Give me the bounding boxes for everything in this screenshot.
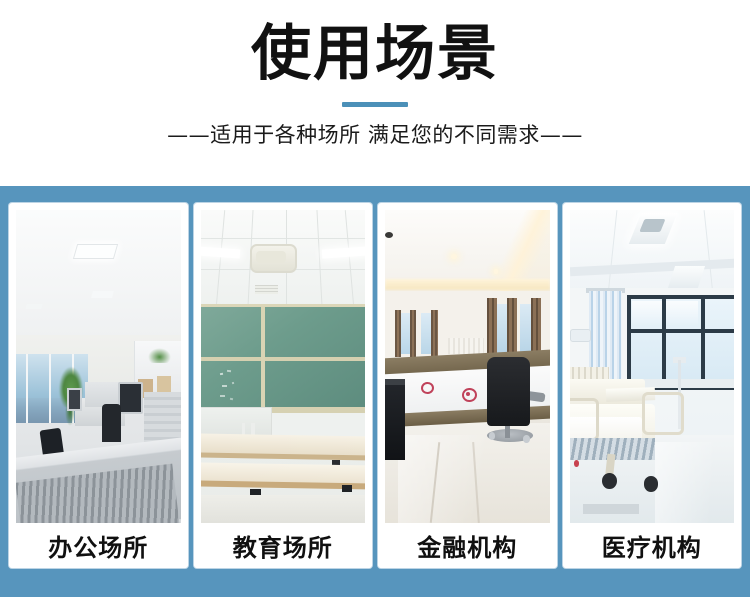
scenario-label-finance: 金融机构 xyxy=(378,523,557,568)
bed-wheel-icon xyxy=(602,473,617,489)
classroom-photo xyxy=(201,210,366,523)
bank-photo xyxy=(385,210,550,523)
scenario-card-list: 办公场所 xyxy=(9,203,741,568)
scenario-card-office[interactable]: 办公场所 xyxy=(9,203,188,568)
scenario-label-education: 教育场所 xyxy=(194,523,373,568)
page-subtitle: ——适用于各种场所 满足您的不同需求—— xyxy=(167,122,583,148)
title-divider xyxy=(342,102,408,107)
scenario-label-medical: 医疗机构 xyxy=(563,523,742,568)
ceiling-light-panel-icon xyxy=(73,244,119,259)
scenario-card-medical[interactable]: 医疗机构 xyxy=(563,203,742,568)
downlight-icon xyxy=(451,254,458,259)
usage-scenarios-page: 使用场景 ——适用于各种场所 满足您的不同需求—— xyxy=(0,0,750,597)
page-header: 使用场景 ——适用于各种场所 满足您的不同需求—— xyxy=(0,0,750,186)
hospital-photo xyxy=(570,210,735,523)
scenario-card-education[interactable]: 教育场所 xyxy=(194,203,373,568)
bed-wheel-icon xyxy=(644,476,659,492)
scenarios-band: 办公场所 xyxy=(0,186,750,597)
office-photo xyxy=(16,210,181,523)
scenario-card-finance[interactable]: 金融机构 xyxy=(378,203,557,568)
scenario-label-office: 办公场所 xyxy=(9,523,188,568)
page-title: 使用场景 xyxy=(251,22,499,86)
downlight-icon xyxy=(494,269,499,273)
